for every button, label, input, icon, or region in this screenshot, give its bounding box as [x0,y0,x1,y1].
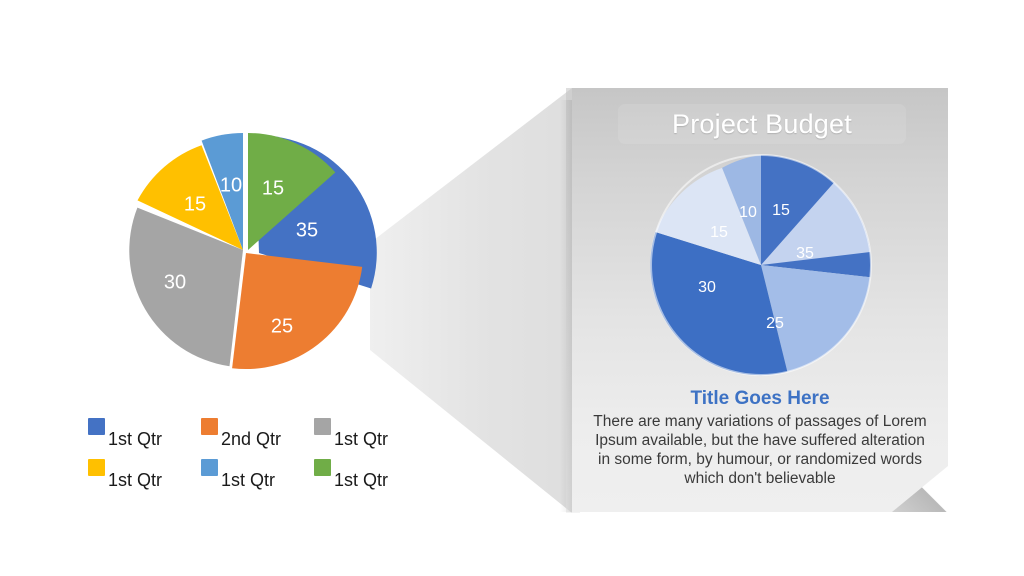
main-pie-chart: 35 25 30 15 10 15 [88,100,408,400]
legend-swatch-icon [314,459,331,476]
legend-item-3[interactable]: 1st Qtr [82,459,195,500]
legend-item-0[interactable]: 1st Qtr [82,418,195,459]
pie-slice-25[interactable] [232,253,362,369]
legend-label: 1st Qtr [334,429,388,450]
legend-item-4[interactable]: 1st Qtr [195,459,308,500]
pie-value-15-yellow: 15 [184,193,206,215]
legend-row-2: 1st Qtr 1st Qtr 1st Qtr [82,459,422,500]
pie-value-15-green: 15 [262,177,284,199]
legend-item-1[interactable]: 2nd Qtr [195,418,308,459]
legend-label: 1st Qtr [108,470,162,491]
panel-body-text: There are many variations of passages of… [590,412,930,488]
panel-title-bar: Project Budget [618,104,906,144]
pie-value-35: 35 [296,219,318,241]
legend-label: 1st Qtr [221,470,275,491]
detail-panel: Project Budget 35 25 30 15 1 [572,88,948,512]
panel-pie-value-15-a: 15 [710,224,728,241]
panel-pie-value-15-b: 15 [772,202,790,219]
panel-pie-chart: 35 25 30 15 10 15 [638,142,884,388]
legend-swatch-icon [88,418,105,435]
panel-pie-value-10: 10 [739,204,757,221]
panel-pie-value-35: 35 [796,245,814,262]
legend-row-1: 1st Qtr 2nd Qtr 1st Qtr [82,418,422,459]
legend-swatch-icon [88,459,105,476]
legend-item-5[interactable]: 1st Qtr [308,459,421,500]
panel-pie-value-25: 25 [766,315,784,332]
slide-canvas: 35 25 30 15 10 15 1st Qtr 2nd Qtr 1st Qt… [0,0,1024,576]
panel-title: Project Budget [618,104,906,144]
pie-value-10: 10 [220,174,242,196]
legend-item-2[interactable]: 1st Qtr [308,418,421,459]
legend-swatch-icon [314,418,331,435]
legend-label: 1st Qtr [108,429,162,450]
legend-label: 2nd Qtr [221,429,281,450]
legend-swatch-icon [201,418,218,435]
pie-value-30: 30 [164,271,186,293]
legend-swatch-icon [201,459,218,476]
panel-pie-value-30: 30 [698,279,716,296]
legend-label: 1st Qtr [334,470,388,491]
pie-value-25: 25 [271,315,293,337]
pie-legend: 1st Qtr 2nd Qtr 1st Qtr 1st Qtr 1st Qtr [82,418,422,504]
panel-heading: Title Goes Here [572,388,948,410]
